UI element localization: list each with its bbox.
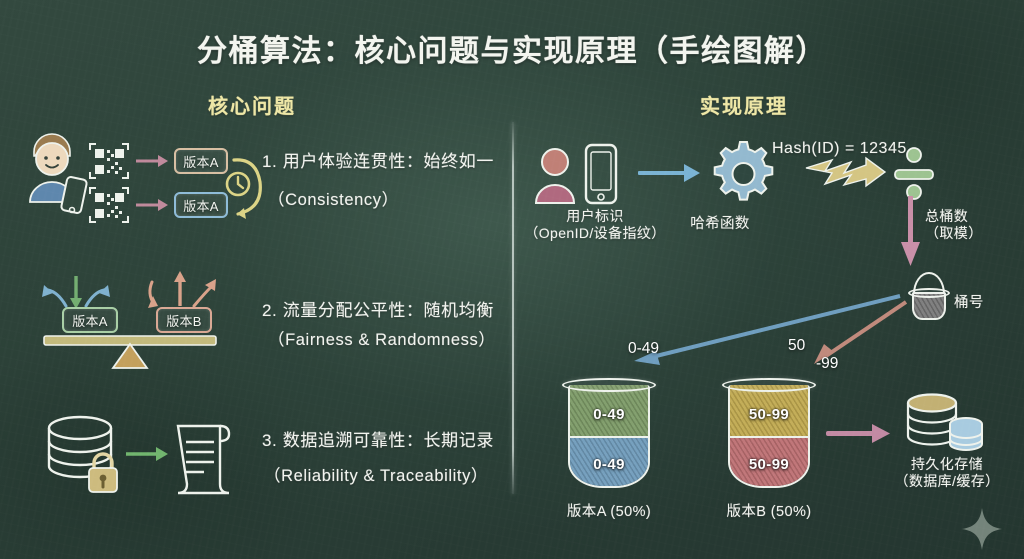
bucket-a-top-label: 0-49 (562, 406, 656, 423)
chalkboard-canvas: 分桶算法：核心问题与实现原理（手绘图解） 核心问题 1. 用户体验连贯性：始终如… (0, 0, 1024, 559)
left-point-1-sub: （Consistency） (268, 186, 399, 210)
fairness-version-b-box: 版本B (156, 307, 212, 333)
database-stack-icon (898, 390, 994, 454)
qr-code-icon (90, 144, 128, 178)
left-point-1-text: 用户体验连贯性：始终如一 (283, 152, 494, 171)
document-scroll-icon (178, 426, 229, 493)
left-point-3-main: 3. 数据追溯可靠性：长期记录 (262, 426, 494, 451)
reliability-illustration (34, 404, 244, 504)
modulo-label-1: 总桶数 (925, 208, 983, 225)
arrow-up-icon (174, 271, 186, 306)
modulo-caption: 总桶数 （取模） (925, 208, 983, 242)
bucket-rim (908, 288, 950, 298)
gear-icon (715, 142, 773, 200)
bucket-version-b: 50-99 50-99 (722, 378, 816, 488)
user-identity-label-1: 用户标识 (500, 208, 690, 225)
left-point-3-number: 3. (262, 431, 277, 450)
hash-function-caption: 哈希函数 (665, 212, 775, 233)
page-title: 分桶算法：核心问题与实现原理（手绘图解） (0, 26, 1024, 70)
user-avatar-icon (536, 149, 574, 203)
clock-refresh-icon (222, 146, 268, 228)
bucket-b-top-label: 50-99 (722, 406, 816, 423)
left-section-heading: 核心问题 (208, 90, 296, 119)
user-identity-label-2: （OpenID/设备指纹） (500, 225, 690, 242)
version-a-box-bottom-label: 版本A (183, 196, 219, 215)
left-point-2-main: 2. 流量分配公平性：随机均衡 (262, 296, 494, 321)
arrow-right-icon (826, 420, 896, 450)
arrow-curve-upright-icon (194, 286, 212, 306)
storage-caption: 持久化存储 （数据库/缓存） (872, 456, 1022, 490)
arrow-right-icon (136, 155, 168, 167)
bucket-b-caption: 版本B (50%) (709, 500, 829, 521)
fairness-version-a-box: 版本A (62, 307, 118, 333)
arrow-branch-left-icon (634, 296, 900, 365)
person-with-phone-icon (30, 134, 87, 214)
bucket-a-bottom-label: 0-49 (562, 456, 656, 473)
bucket-version-a: 0-49 0-49 (562, 378, 656, 488)
left-point-3-sub: （Reliability & Traceability） (264, 462, 488, 486)
division-sign-icon (895, 148, 933, 199)
version-a-box-top-label: 版本A (183, 152, 219, 171)
left-point-2-sub: （Fairness & Randomness） (268, 326, 495, 350)
bucket-a-rim (562, 378, 656, 392)
left-point-3-text: 数据追溯可靠性：长期记录 (283, 431, 494, 450)
lock-icon (89, 454, 117, 492)
arrow-right-icon (126, 447, 168, 461)
branch-label-right-bottom: -99 (816, 355, 838, 373)
branch-label-left: 0-49 (628, 340, 659, 358)
arrow-down-icon (70, 276, 82, 309)
storage-label-2: （数据库/缓存） (872, 473, 1022, 490)
fairness-version-b-label: 版本B (166, 311, 202, 330)
smartphone-icon (586, 145, 616, 203)
version-a-box-bottom: 版本A (174, 192, 228, 218)
left-point-1-main: 1. 用户体验连贯性：始终如一 (262, 147, 494, 172)
sparkle-icon (962, 508, 1002, 550)
modulo-label-2: （取模） (925, 225, 983, 242)
bucket-b-rim (722, 378, 816, 392)
storage-label-1: 持久化存储 (872, 456, 1022, 473)
user-identity-caption: 用户标识 （OpenID/设备指纹） (500, 208, 690, 242)
arrow-down-icon (898, 196, 928, 270)
consistency-illustration (12, 126, 252, 236)
branch-arrows (600, 290, 930, 380)
arrow-right-icon (136, 199, 168, 211)
vertical-divider (512, 122, 514, 494)
qr-code-icon (90, 188, 128, 222)
triangle-fulcrum-icon (113, 344, 147, 368)
bucket-number-caption: 桶号 (954, 291, 984, 312)
branch-label-right-top: 50 (788, 337, 805, 355)
pipeline-flow-row (528, 140, 948, 212)
lightning-arrow-icon (806, 158, 885, 186)
right-section-heading: 实现原理 (700, 90, 788, 119)
left-point-2-number: 2. (262, 301, 277, 320)
fairness-version-a-label: 版本A (72, 311, 108, 330)
left-point-2-text: 流量分配公平性：随机均衡 (283, 301, 494, 320)
version-a-box-top: 版本A (174, 148, 228, 174)
arrow-right-icon (638, 164, 700, 182)
bucket-a-caption: 版本A (50%) (549, 500, 669, 521)
bucket-b-bottom-label: 50-99 (722, 456, 816, 473)
